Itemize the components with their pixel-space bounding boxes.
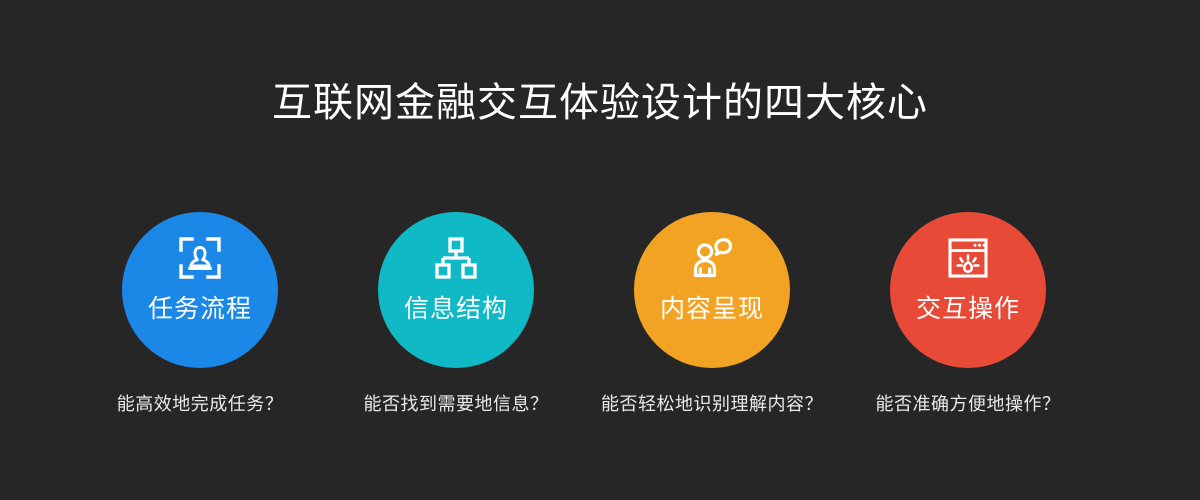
sitemap-hierarchy-icon xyxy=(432,234,480,282)
person-speech-bubble-icon xyxy=(688,234,736,282)
circle-information-structure[interactable]: 信息结构 xyxy=(378,212,534,368)
person-focus-frame-icon xyxy=(176,234,224,282)
card-row: 任务流程 能高效地完成任务？ xyxy=(0,212,1200,442)
card-task-flow[interactable]: 任务流程 能高效地完成任务？ xyxy=(72,212,328,416)
browser-click-cursor-icon xyxy=(944,234,992,282)
card-content-presentation[interactable]: 内容呈现 能否轻松地识别理解内容？ xyxy=(584,212,840,416)
slide-root: 互联网金融交互体验设计的四大核心 xyxy=(0,0,1200,500)
circle-label-information-structure: 信息结构 xyxy=(404,294,508,324)
circle-task-flow[interactable]: 任务流程 xyxy=(122,212,278,368)
card-caption-information-structure: 能否找到需要地信息？ xyxy=(364,392,549,416)
circle-label-content-presentation: 内容呈现 xyxy=(660,294,764,324)
card-caption-interaction-operation: 能否准确方便地操作？ xyxy=(876,392,1061,416)
card-information-structure[interactable]: 信息结构 能否找到需要地信息？ xyxy=(328,212,584,416)
card-caption-task-flow: 能高效地完成任务？ xyxy=(117,392,284,416)
circle-content-presentation[interactable]: 内容呈现 xyxy=(634,212,790,368)
circle-interaction-operation[interactable]: 交互操作 xyxy=(890,212,1046,368)
card-caption-content-presentation: 能否轻松地识别理解内容？ xyxy=(601,392,823,416)
circle-label-interaction-operation: 交互操作 xyxy=(916,294,1020,324)
circle-label-task-flow: 任务流程 xyxy=(148,294,252,324)
page-title: 互联网金融交互体验设计的四大核心 xyxy=(0,76,1200,130)
card-interaction-operation[interactable]: 交互操作 能否准确方便地操作？ xyxy=(840,212,1096,416)
